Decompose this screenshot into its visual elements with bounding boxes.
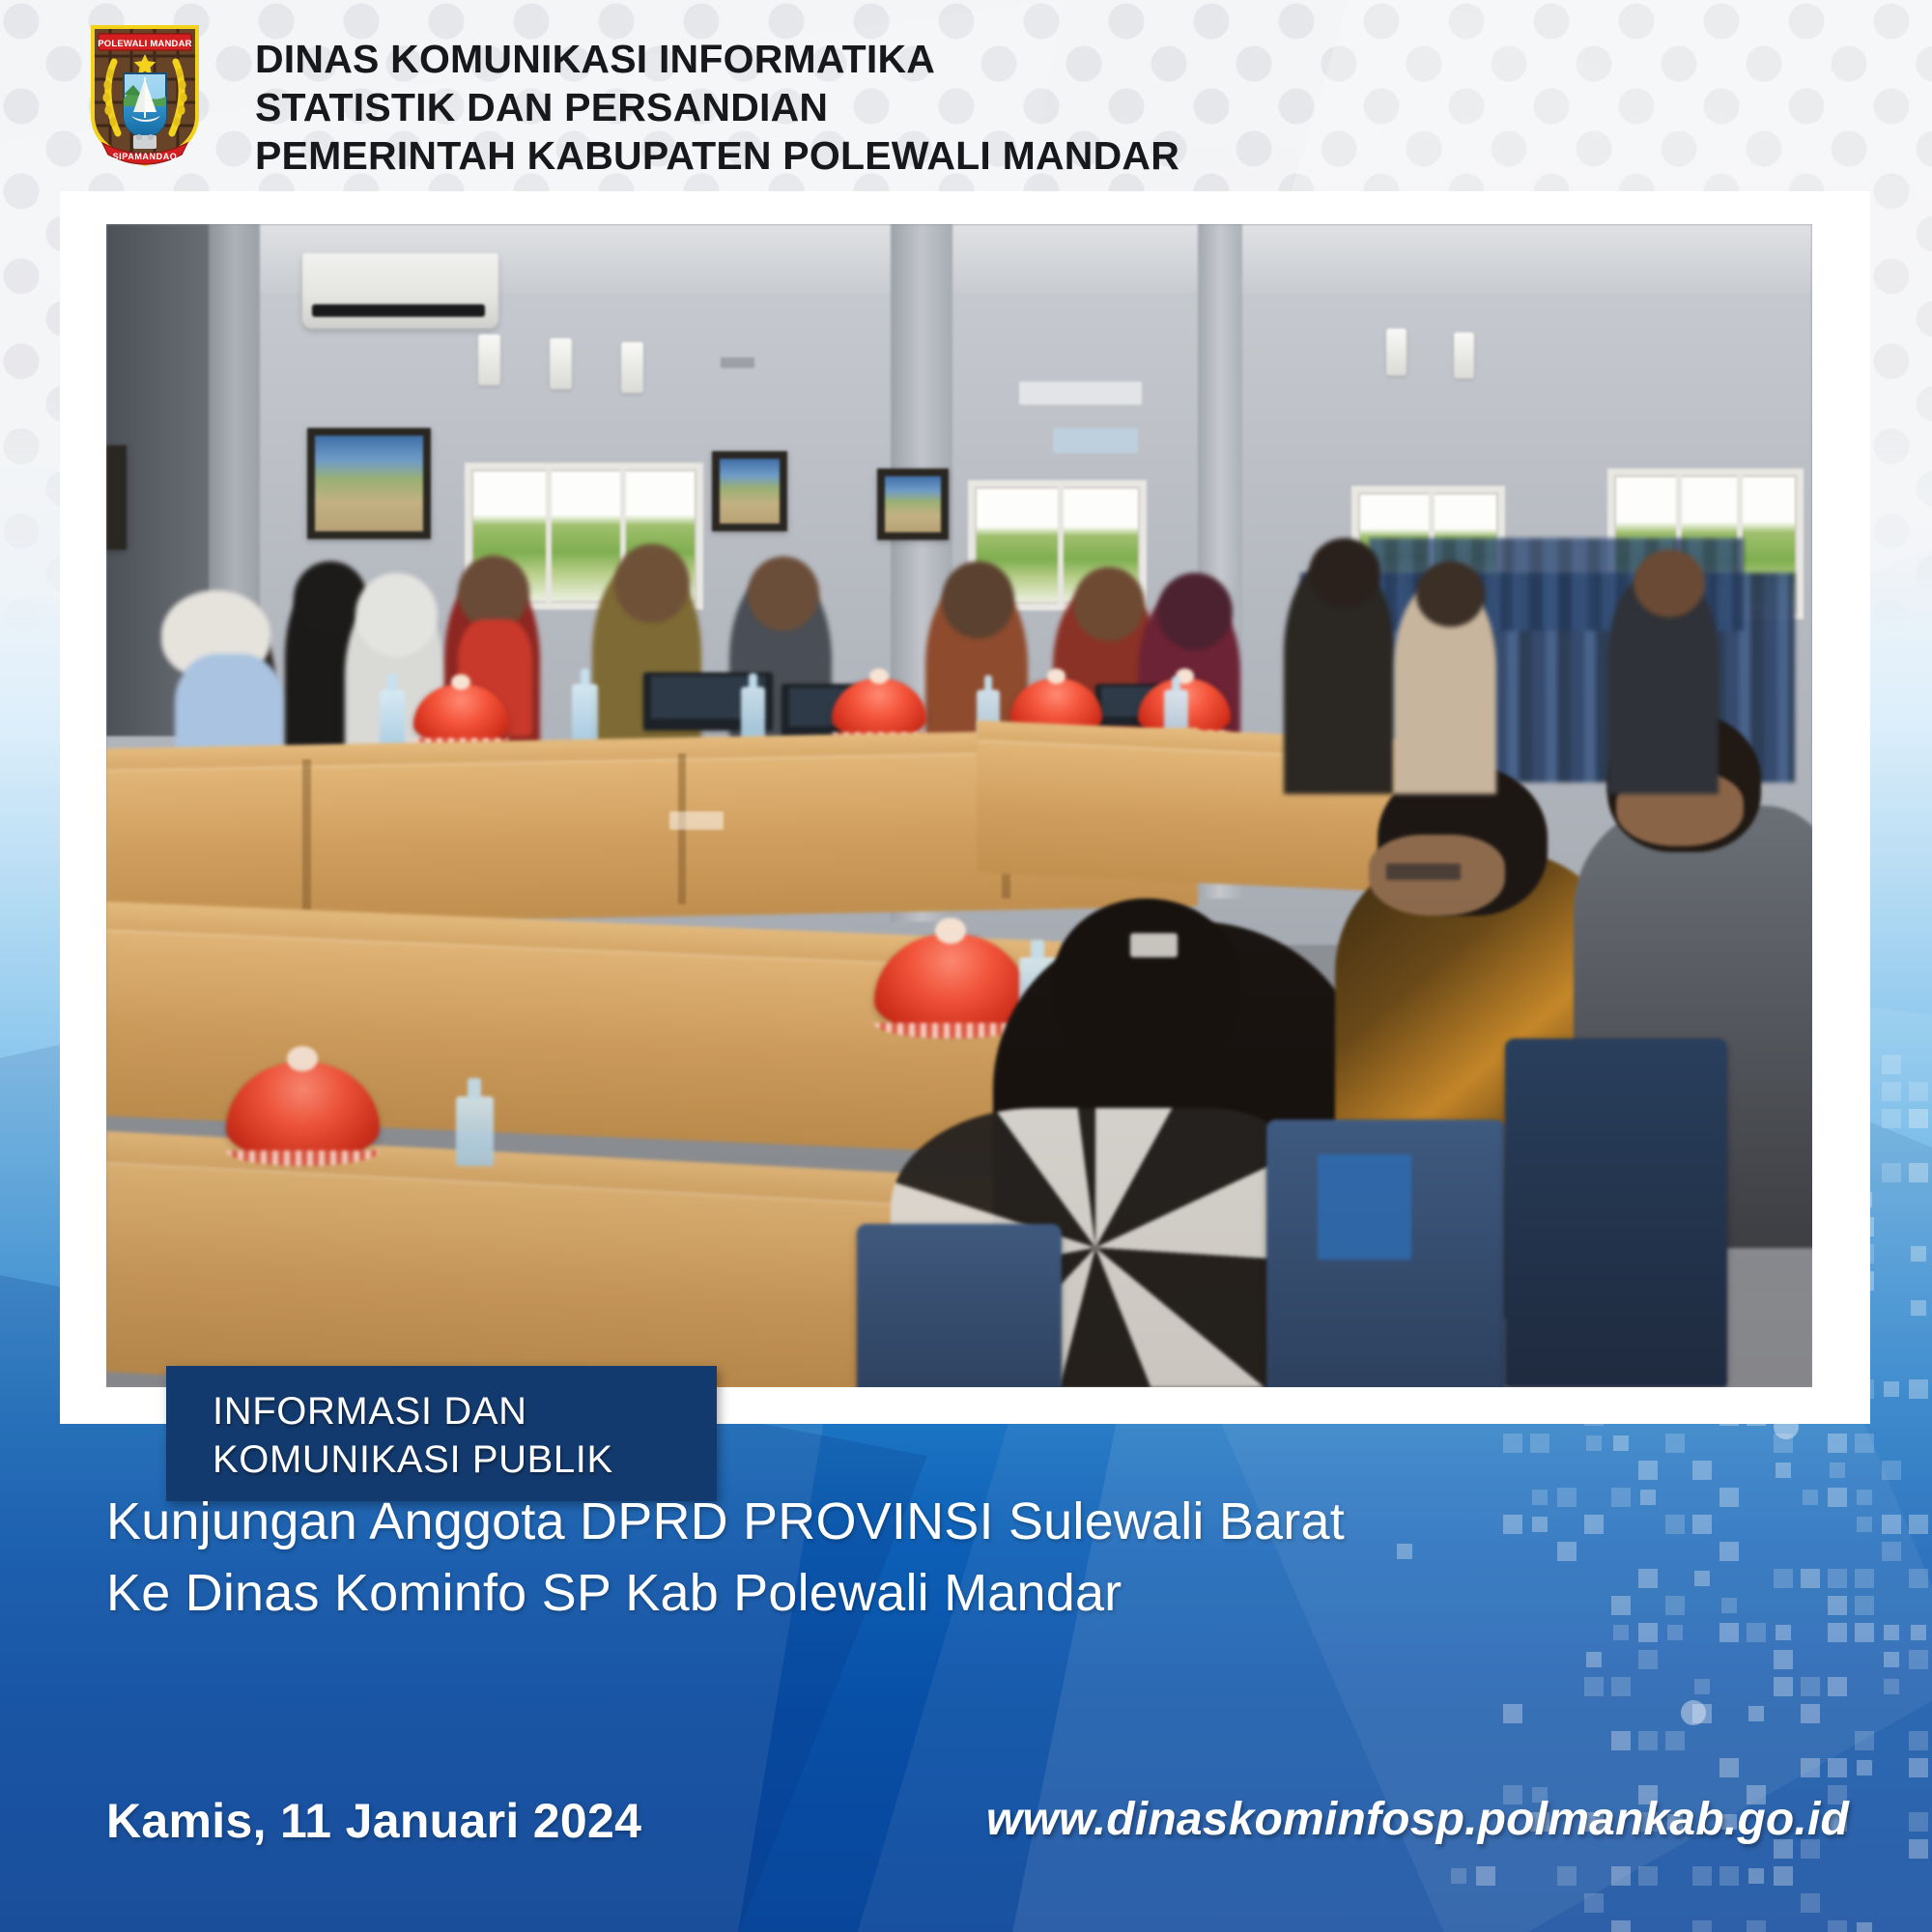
photo-frame: INFORMASI DAN KOMUNIKASI PUBLIK xyxy=(60,191,1870,1424)
caption-line-1: Kunjungan Anggota DPRD PROVINSI Sulewali… xyxy=(106,1486,1555,1557)
badge-line-1: INFORMASI DAN xyxy=(213,1387,717,1435)
page-title: DINAS KOMUNIKASI INFORMATIKA STATISTIK D… xyxy=(255,35,1179,180)
svg-text:SIPAMANDAQ: SIPAMANDAQ xyxy=(113,152,178,161)
header-bar: POLEWALI MANDAR xyxy=(0,0,1932,193)
org-title-line-1: DINAS KOMUNIKASI INFORMATIKA xyxy=(255,35,1179,83)
event-date: Kamis, 11 Januari 2024 xyxy=(106,1793,641,1849)
event-caption: Kunjungan Anggota DPRD PROVINSI Sulewali… xyxy=(106,1486,1555,1629)
poster-canvas: POLEWALI MANDAR xyxy=(0,0,1932,1932)
caption-line-2: Ke Dinas Kominfo SP Kab Polewali Mandar xyxy=(106,1557,1555,1629)
org-title-line-3: PEMERINTAH KABUPATEN POLEWALI MANDAR xyxy=(255,131,1179,180)
event-photo xyxy=(106,224,1812,1387)
svg-text:POLEWALI MANDAR: POLEWALI MANDAR xyxy=(98,39,191,49)
badge-line-2: KOMUNIKASI PUBLIK xyxy=(213,1435,717,1484)
website-url[interactable]: www.dinaskominfosp.polmankab.go.id xyxy=(986,1793,1849,1846)
org-title-line-2: STATISTIK DAN PERSANDIAN xyxy=(255,83,1179,131)
polewali-mandar-coat-of-arms-icon: POLEWALI MANDAR xyxy=(85,23,205,166)
photo-category-badge: INFORMASI DAN KOMUNIKASI PUBLIK xyxy=(166,1366,717,1501)
